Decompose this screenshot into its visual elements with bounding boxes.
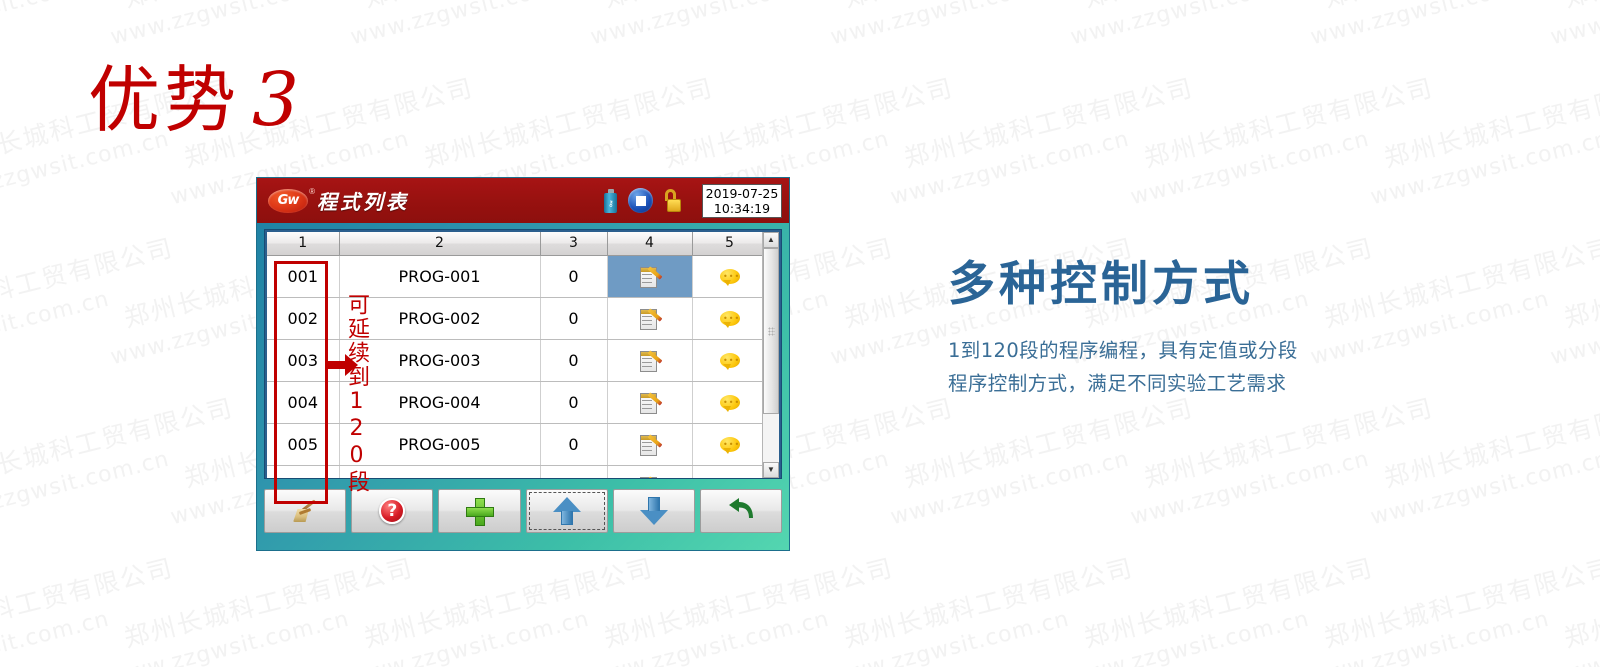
program-name-cell[interactable]: PROG-004: [339, 381, 540, 423]
watermark-url-text: www.zzgwsit.com.cn: [1068, 0, 1312, 50]
gw-logo-text: Gw: [278, 194, 299, 207]
column-header-4[interactable]: 4: [607, 232, 692, 255]
table-header-row: 1 2 3 4 5: [267, 232, 762, 255]
row-index-cell[interactable]: 001: [267, 255, 339, 297]
feature-panel: 多种控制方式 1到120段的程序编程，具有定值或分段 程序控制方式，满足不同实验…: [948, 258, 1368, 400]
program-name-cell[interactable]: PROG-006: [339, 465, 540, 478]
watermark-company-text: 郑州长城科工贸有限公司: [1140, 388, 1437, 495]
watermark-url-text: www.zzgwsit.com.cn: [0, 0, 112, 50]
watermark-company-text: 郑州长城科工贸有限公司: [1560, 0, 1600, 15]
arrow-down-icon-head: [640, 510, 668, 525]
program-name-cell[interactable]: PROG-001: [339, 255, 540, 297]
edit-icon[interactable]: [640, 475, 660, 479]
watermark-url-text: www.zzgwsit.com.cn: [1308, 0, 1552, 50]
plus-icon: [466, 498, 492, 524]
watermark-url-text: www.zzgwsit.com.cn: [1548, 0, 1600, 50]
watermark-company-text: 郑州长城科工贸有限公司: [0, 228, 177, 335]
bottom-toolbar: ?: [264, 484, 782, 538]
watermark-company-text: 郑州长城科工贸有限公司: [0, 548, 177, 655]
watermark-company-text: 郑州长城科工贸有限公司: [840, 548, 1137, 655]
edit-icon-line: [642, 316, 652, 317]
row-index-cell[interactable]: 005: [267, 423, 339, 465]
watermark-url-text: www.zzgwsit.com.cn: [1548, 607, 1600, 667]
edit-cell[interactable]: [607, 297, 692, 339]
watermark-url-text: www.zzgwsit.com.cn: [0, 607, 112, 667]
unlock-icon-body: [667, 199, 681, 212]
watermark-company-text: 郑州长城科工贸有限公司: [1080, 0, 1377, 15]
edit-icon-line: [642, 320, 652, 321]
watermark-url-text: www.zzgwsit.com.cn: [1548, 287, 1600, 371]
row-index-cell[interactable]: 004: [267, 381, 339, 423]
comment-icon[interactable]: •••: [720, 437, 740, 454]
program-value-cell[interactable]: 0: [540, 255, 607, 297]
comment-icon[interactable]: •••: [720, 395, 740, 412]
watermark-url-text: www.zzgwsit.com.cn: [888, 447, 1132, 531]
status-icon-group: ⚷ 2019-07-25 10:34:19: [604, 184, 789, 218]
arrow-up-icon-stem: [561, 511, 573, 525]
app-titlebar: Gw ® 程式列表 ⚷ 2019-07-25 10:34:19: [257, 178, 789, 223]
edit-icon[interactable]: [640, 391, 660, 414]
edit-icon-line: [642, 362, 652, 363]
edit-cell[interactable]: [607, 339, 692, 381]
watermark-url-text: www.zzgwsit.com.cn: [1308, 607, 1552, 667]
watermark-company-text: 郑州长城科工贸有限公司: [1320, 548, 1600, 655]
watermark-company-text: 郑州长城科工贸有限公司: [120, 548, 417, 655]
watermark-url-text: www.zzgwsit.com.cn: [348, 607, 592, 667]
column-header-1[interactable]: 1: [267, 232, 339, 255]
edit-icon-line: [642, 450, 652, 451]
watermark-url-text: www.zzgwsit.com.cn: [1368, 127, 1600, 211]
column-header-2[interactable]: 2: [339, 232, 540, 255]
watermark-url-text: www.zzgwsit.com.cn: [0, 287, 112, 371]
arrow-down-icon: [640, 497, 668, 525]
comment-cell[interactable]: •••: [692, 297, 762, 339]
unlock-icon[interactable]: [664, 189, 681, 212]
watermark-company-text: 郑州长城科工贸有限公司: [600, 0, 897, 15]
watermark-company-text: 郑州长城科工贸有限公司: [1320, 0, 1600, 15]
comment-icon-dots: •••: [723, 359, 740, 363]
page-title: 优势3: [88, 62, 303, 138]
comment-icon[interactable]: •••: [720, 353, 740, 370]
edit-icon-line: [642, 278, 652, 279]
back-arrow-icon: [726, 498, 756, 524]
move-down-button[interactable]: [613, 489, 695, 533]
watermark-url-text: www.zzgwsit.com.cn: [588, 607, 832, 667]
comment-icon-dots: •••: [723, 443, 740, 447]
program-name-cell[interactable]: PROG-002: [339, 297, 540, 339]
stop-icon[interactable]: [628, 188, 653, 213]
watermark-company-text: 郑州长城科工贸有限公司: [900, 388, 1197, 495]
question-mark-icon: ?: [379, 498, 405, 524]
date-text: 2019-07-25: [706, 186, 779, 201]
watermark-company-text: 郑州长城科工贸有限公司: [0, 0, 177, 15]
watermark-url-text: www.zzgwsit.com.cn: [108, 0, 352, 50]
page-title-number: 3: [252, 57, 303, 143]
comment-cell[interactable]: •••: [692, 255, 762, 297]
watermark-url-text: www.zzgwsit.com.cn: [108, 607, 352, 667]
edit-cell[interactable]: [607, 465, 692, 478]
feature-description: 1到120段的程序编程，具有定值或分段 程序控制方式，满足不同实验工艺需求: [948, 334, 1368, 400]
back-button[interactable]: [700, 489, 782, 533]
edit-icon-line: [642, 366, 652, 367]
clear-button[interactable]: [264, 489, 346, 533]
watermark-url-text: www.zzgwsit.com.cn: [828, 607, 1072, 667]
usb-icon-mark: ⚷: [608, 199, 613, 208]
annotation-text: 可延续到120段: [344, 293, 369, 494]
watermark-company-text: 郑州长城科工贸有限公司: [120, 0, 417, 15]
feature-title: 多种控制方式: [948, 258, 1368, 312]
feature-description-line-1: 1到120段的程序编程，具有定值或分段: [948, 334, 1368, 367]
watermark-company-text: 郑州长城科工贸有限公司: [420, 68, 717, 175]
app-title: 程式列表: [317, 186, 409, 215]
watermark-company-text: 郑州长城科工贸有限公司: [1560, 548, 1600, 655]
comment-cell[interactable]: •••: [692, 423, 762, 465]
feature-description-line-2: 程序控制方式，满足不同实验工艺需求: [948, 367, 1368, 400]
scroll-down-button[interactable]: ▼: [763, 462, 779, 478]
arrow-up-icon: [553, 497, 581, 525]
watermark-url-text: www.zzgwsit.com.cn: [1068, 607, 1312, 667]
watermark-url-text: www.zzgwsit.com.cn: [1368, 447, 1600, 531]
table-row[interactable]: 005PROG-0050•••: [267, 423, 762, 465]
watermark-url-text: www.zzgwsit.com.cn: [1128, 127, 1372, 211]
edit-icon-line: [642, 282, 652, 283]
comment-cell[interactable]: •••: [692, 339, 762, 381]
comment-cell[interactable]: •••: [692, 465, 762, 478]
watermark-company-text: 郑州长城科工贸有限公司: [1380, 68, 1600, 175]
edit-icon-line: [642, 446, 652, 447]
edit-icon-line: [642, 358, 652, 359]
watermark-url-text: www.zzgwsit.com.cn: [0, 447, 172, 531]
comment-icon[interactable]: •••: [720, 269, 740, 286]
watermark-url-text: www.zzgwsit.com.cn: [1128, 447, 1372, 531]
edit-icon-line: [642, 324, 652, 325]
watermark-url-text: www.zzgwsit.com.cn: [588, 0, 832, 50]
watermark-company-text: 郑州长城科工贸有限公司: [1140, 68, 1437, 175]
scrollbar-track[interactable]: [763, 248, 779, 462]
page-title-text: 优势: [88, 58, 240, 142]
watermark-company-text: 郑州长城科工贸有限公司: [1380, 388, 1600, 495]
program-value-cell[interactable]: 0: [540, 339, 607, 381]
edit-icon[interactable]: [640, 265, 660, 288]
edit-icon-line: [642, 408, 652, 409]
edit-icon[interactable]: [640, 433, 660, 456]
edit-cell[interactable]: [607, 423, 692, 465]
program-name-cell[interactable]: PROG-005: [339, 423, 540, 465]
watermark-company-text: 郑州长城科工贸有限公司: [1560, 228, 1600, 335]
edit-icon-line: [642, 442, 652, 443]
comment-icon-dots: •••: [723, 275, 740, 279]
comment-icon[interactable]: •••: [720, 311, 740, 328]
scrollbar-grip-icon: [768, 327, 775, 336]
registered-mark: ®: [309, 187, 315, 196]
add-button[interactable]: [438, 489, 520, 533]
watermark-company-text: 郑州长城科工贸有限公司: [600, 548, 897, 655]
watermark-company-text: 郑州长城科工贸有限公司: [660, 68, 957, 175]
edit-icon-line: [642, 274, 652, 275]
edit-cell[interactable]: [607, 381, 692, 423]
watermark-url-text: www.zzgwsit.com.cn: [828, 0, 1072, 50]
watermark-url-text: www.zzgwsit.com.cn: [348, 0, 592, 50]
table-row[interactable]: 006PROG-0060•••: [267, 465, 762, 478]
stop-icon-square: [636, 196, 646, 206]
watermark-company-text: 郑州长城科工贸有限公司: [360, 548, 657, 655]
watermark-url-text: www.zzgwsit.com.cn: [888, 127, 1132, 211]
watermark-company-text: 郑州长城科工贸有限公司: [0, 388, 237, 495]
table-row[interactable]: 002PROG-0020•••: [267, 297, 762, 339]
column-header-3[interactable]: 3: [540, 232, 607, 255]
table-row[interactable]: 004PROG-0040•••: [267, 381, 762, 423]
program-value-cell[interactable]: 0: [540, 423, 607, 465]
arrow-up-icon-head: [553, 497, 581, 512]
program-value-cell[interactable]: 0: [540, 381, 607, 423]
scrollbar-thumb[interactable]: [763, 248, 779, 414]
table-row[interactable]: 001PROG-0010•••: [267, 255, 762, 297]
edit-cell[interactable]: [607, 255, 692, 297]
broom-icon: [292, 498, 318, 524]
help-button[interactable]: ?: [351, 489, 433, 533]
watermark-company-text: 郑州长城科工贸有限公司: [840, 0, 1137, 15]
arrow-down-icon-stem: [648, 497, 660, 511]
gw-logo-icon: Gw ®: [268, 189, 308, 213]
datetime-display[interactable]: 2019-07-25 10:34:19: [702, 184, 782, 218]
move-up-button[interactable]: [526, 489, 608, 533]
watermark-company-text: 郑州长城科工贸有限公司: [360, 0, 657, 15]
comment-icon-dots: •••: [723, 401, 740, 405]
edit-icon-line: [642, 400, 652, 401]
program-name-cell[interactable]: PROG-003: [339, 339, 540, 381]
edit-icon[interactable]: [640, 349, 660, 372]
watermark-company-text: 郑州长城科工贸有限公司: [900, 68, 1197, 175]
watermark-company-text: 郑州长城科工贸有限公司: [1080, 548, 1377, 655]
program-value-cell[interactable]: 0: [540, 297, 607, 339]
edit-icon-line: [642, 404, 652, 405]
usb-icon[interactable]: ⚷: [604, 189, 617, 213]
row-index-cell[interactable]: 002: [267, 297, 339, 339]
comment-icon-dots: •••: [723, 317, 740, 321]
program-value-cell[interactable]: 0: [540, 465, 607, 478]
time-text: 10:34:19: [714, 201, 770, 216]
scroll-up-button[interactable]: ▲: [763, 232, 779, 248]
vertical-scrollbar[interactable]: ▲ ▼: [762, 232, 779, 478]
comment-cell[interactable]: •••: [692, 381, 762, 423]
row-index-cell[interactable]: 006: [267, 465, 339, 478]
edit-icon[interactable]: [640, 307, 660, 330]
column-header-5[interactable]: 5: [692, 232, 762, 255]
